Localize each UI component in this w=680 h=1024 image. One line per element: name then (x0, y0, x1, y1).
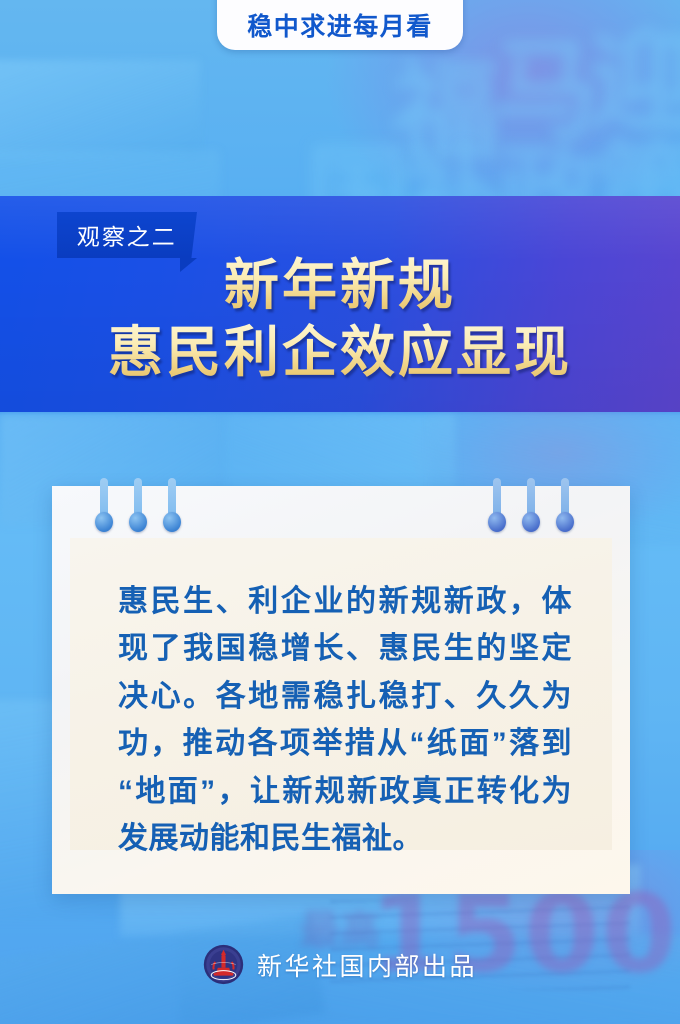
poster-root: 福 马 迎 国 补 政 策 最高 1500 稳中求进每月看 观察之二 新年新规 … (0, 0, 680, 1024)
background-panel-a (0, 60, 200, 160)
note-card-inner-panel: 惠民生、利企业的新规新政，体现了我国稳增长、惠民生的坚定决心。各地需稳扎稳打、久… (70, 538, 612, 850)
binding-ring-left-3 (163, 478, 181, 536)
page-title: 新年新规 惠民利企效应显现 (0, 253, 680, 385)
binding-ring-left-2 (129, 478, 147, 536)
note-card-body-text: 惠民生、利企业的新规新政，体现了我国稳增长、惠民生的坚定决心。各地需稳扎稳打、久… (118, 578, 572, 862)
footer: 新华社国内部出品 (0, 944, 680, 985)
binding-ring-bead (522, 512, 540, 532)
binding-ring-left-1 (95, 478, 113, 536)
note-card: 惠民生、利企业的新规新政，体现了我国稳增长、惠民生的坚定决心。各地需稳扎稳打、久… (52, 486, 630, 894)
binding-ring-right-1 (488, 478, 506, 536)
page-title-line-2: 惠民利企效应显现 (0, 320, 680, 385)
binding-ring-bead (488, 512, 506, 532)
binding-ring-right-2 (522, 478, 540, 536)
binding-ring-bead (556, 512, 574, 532)
top-badge[interactable]: 稳中求进每月看 (217, 0, 463, 50)
section-tag-label: 观察之二 (76, 218, 177, 252)
section-tag: 观察之二 (57, 212, 197, 258)
top-badge-label: 稳中求进每月看 (247, 7, 433, 43)
binding-ring-bead (95, 512, 113, 532)
binding-ring-bead (163, 512, 181, 532)
binding-ring-right-3 (556, 478, 574, 536)
binding-ring-bead (129, 512, 147, 532)
page-title-line-1: 新年新规 (0, 253, 680, 318)
xinhua-emblem-icon (203, 944, 244, 985)
footer-label: 新华社国内部出品 (257, 947, 477, 983)
